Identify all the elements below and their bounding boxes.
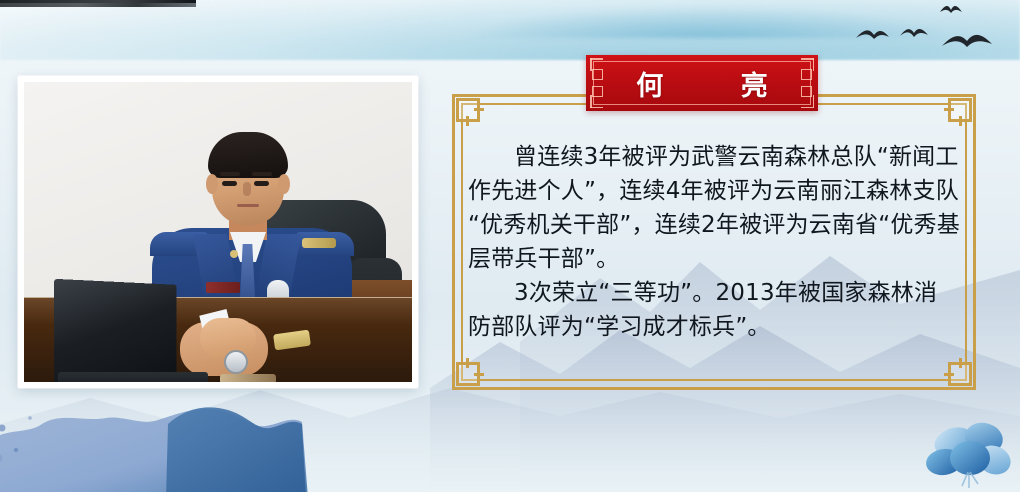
- photo-laptop-screen: [54, 279, 177, 382]
- top-left-dark-bar-edge: [0, 0, 196, 3]
- frame-line-left: [452, 94, 455, 390]
- photo-eye-left: [222, 181, 237, 186]
- photo-laptop-base: [58, 372, 208, 382]
- portrait-photo-frame: [18, 76, 418, 388]
- frame-corner-tick: [944, 108, 954, 111]
- watercolor-flower: [924, 416, 1016, 490]
- photo-mouth: [237, 204, 259, 207]
- watercolor-splash: [0, 388, 350, 492]
- frame-inner-line-bottom: [461, 379, 967, 381]
- biography-text: 曾连续3年被评为武警云南森林总队“新闻工作先进个人”，连续4年被评为云南丽江森林…: [468, 140, 960, 344]
- name-title-banner: 何 亮: [586, 55, 818, 111]
- photo-eye-right: [254, 181, 269, 186]
- photo-ear-left: [206, 174, 218, 194]
- frame-line-right: [973, 94, 976, 390]
- frame-line-bottom: [452, 387, 976, 390]
- birds-icon: [844, 2, 1014, 58]
- frame-corner-tick: [466, 116, 469, 126]
- biography-paragraph-1: 曾连续3年被评为武警云南森林总队“新闻工作先进个人”，连续4年被评为云南丽江森林…: [468, 140, 960, 276]
- photo-eyebrow-right: [252, 172, 272, 176]
- frame-corner-tick: [474, 373, 484, 376]
- frame-corner-tick: [466, 358, 469, 368]
- slide-canvas: 曾连续3年被评为武警云南森林总队“新闻工作先进个人”，连续4年被评为云南丽江森林…: [0, 0, 1020, 492]
- person-name: 何 亮: [586, 55, 818, 111]
- biography-paragraph-2: 3次荣立“三等功”。2013年被国家森林消防部队评为“学习成才标兵”。: [468, 276, 960, 344]
- frame-inner-line-left: [461, 103, 463, 381]
- photo-nose: [243, 182, 251, 196]
- frame-corner-tick: [959, 358, 962, 368]
- photo-epaulette: [302, 238, 336, 248]
- frame-inner-line-right: [965, 103, 967, 381]
- portrait-photo: [24, 82, 412, 382]
- photo-wristwatch: [224, 350, 248, 374]
- frame-corner-tick: [959, 116, 962, 126]
- photo-uniform-button: [230, 250, 238, 258]
- photo-ear-right: [278, 174, 290, 194]
- frame-corner-tick: [474, 108, 484, 111]
- frame-corner-tick: [944, 373, 954, 376]
- photo-name-tag: [206, 282, 240, 293]
- photo-eyebrow-left: [220, 172, 240, 176]
- photo-desk-item: [220, 374, 276, 382]
